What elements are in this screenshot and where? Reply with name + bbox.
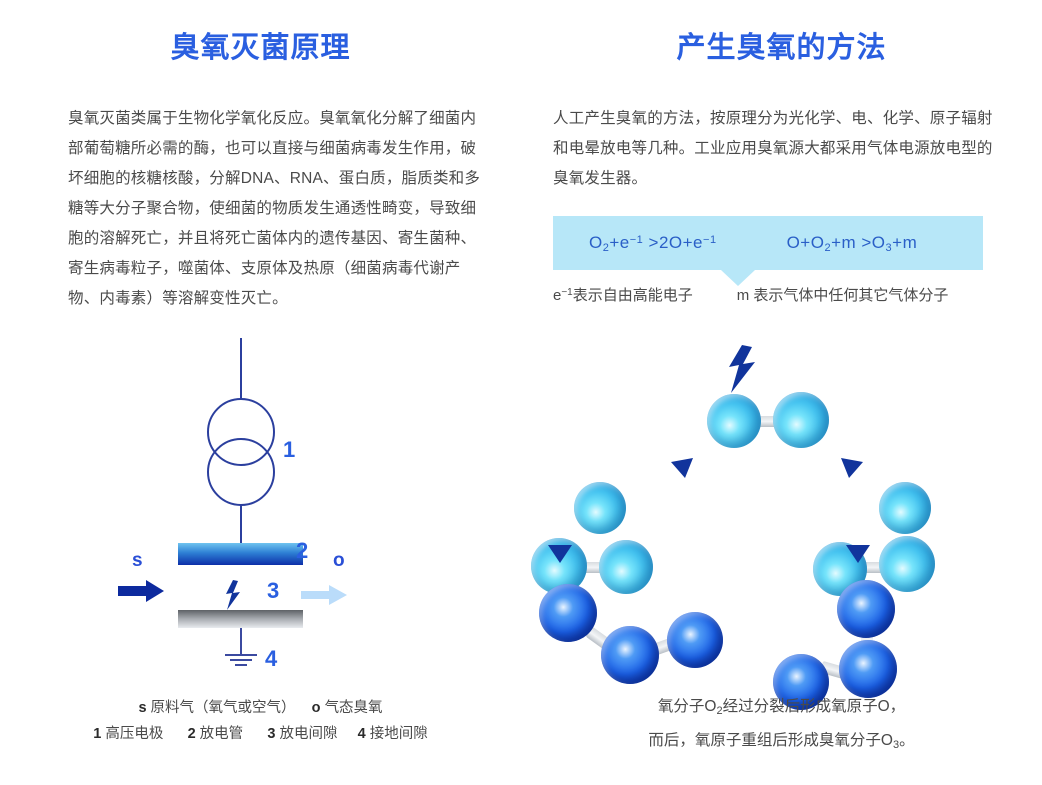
oxygen-atom-right-o2-b [879, 536, 935, 592]
poster-root: 臭氧灭菌原理 臭氧灭菌类属于生物化学氧化反应。臭氧氧化分解了细菌内部葡萄糖所必需… [0, 0, 1042, 785]
formula-box-pointer [721, 270, 755, 286]
legend-line-2: 1 高压电极 2 放电管 3 放电间隙 4 接地间隙 [0, 721, 521, 747]
transformer-coil-lower [207, 438, 275, 506]
oxygen-atom-top-left [707, 394, 761, 448]
left-legend: s 原料气（氧气或空气） o 气态臭氧 1 高压电极 2 放电管 3 放电间隙 … [0, 695, 521, 747]
hv-wire-top [240, 338, 242, 400]
ozone-atom-right-1 [837, 580, 895, 638]
legend-key-2: 2 [188, 726, 196, 742]
left-section-title: 臭氧灭菌原理 [0, 24, 521, 66]
legend-key-3: 3 [267, 726, 275, 742]
ozone-formation-diagram [521, 340, 1042, 680]
callout-number-1: 1 [283, 437, 295, 463]
callout-number-4: 4 [265, 646, 277, 672]
legend-key-4: 4 [358, 726, 366, 742]
legend-text-4: 接地间隙 [370, 726, 428, 742]
oxygen-atom-top-right [773, 392, 829, 448]
right-section-title: 产生臭氧的方法 [521, 24, 1042, 66]
outlet-arrow-icon [301, 585, 347, 610]
left-column: 臭氧灭菌原理 臭氧灭菌类属于生物化学氧化反应。臭氧氧化分解了细菌内部葡萄糖所必需… [0, 0, 521, 785]
ozone-atom-left-2 [601, 626, 659, 684]
ground-symbol-bar-1 [225, 654, 257, 656]
legend-key-s: s [138, 700, 146, 716]
right-body-text: 人工产生臭氧的方法，按原理分为光化学、电、化学、原子辐射和电晕放电等几种。工业应… [553, 104, 1003, 194]
ground-wire [240, 628, 242, 654]
inlet-arrow-icon [118, 580, 164, 607]
ozone-atom-left-3 [667, 612, 723, 668]
high-voltage-electrode [178, 543, 303, 565]
free-oxygen-atom-right [879, 482, 931, 534]
ground-symbol-bar-3 [235, 664, 247, 666]
formula-oxygen-split: O2+e−1 >2O+e−1 [589, 233, 717, 254]
formula-ozone-form: O+O2+m >O3+m [787, 233, 918, 254]
callout-number-3: 3 [267, 578, 279, 604]
ozone-generator-diagram: 1 2 3 4 [0, 338, 521, 683]
formula-callout: O2+e−1 >2O+e−1 O+O2+m >O3+m [553, 216, 983, 270]
legend-text-2: 放电管 [200, 726, 244, 742]
legend-text-s: 原料气（氧气或空气） [151, 700, 296, 716]
formula-box: O2+e−1 >2O+e−1 O+O2+m >O3+m [553, 216, 983, 270]
ground-symbol-bar-2 [230, 659, 252, 661]
ozone-atom-left-1 [539, 584, 597, 642]
hv-wire-bottom [240, 504, 242, 548]
discharge-spark-icon [222, 580, 244, 615]
legend-text-o: 气态臭氧 [325, 700, 383, 716]
legend-text-3: 放电间隙 [279, 726, 337, 742]
oxygen-atom-left-o2-b [599, 540, 653, 594]
callout-number-2: 2 [296, 538, 308, 564]
legend-line-1: s 原料气（氧气或空气） o 气态臭氧 [0, 695, 521, 721]
caption-line-1: 氧分子O2经过分裂后形成氧原子O， [521, 692, 1042, 726]
inlet-gas-label: s [132, 550, 143, 572]
legend-key-1: 1 [93, 726, 101, 742]
legend-text-1: 高压电极 [105, 726, 163, 742]
formula-legend-note: e−1表示自由高能电子m 表示气体中任何其它气体分子 [553, 284, 1042, 305]
caption-line-2: 而后，氧原子重组后形成臭氧分子O3。 [521, 726, 1042, 760]
free-oxygen-atom-left [574, 482, 626, 534]
outlet-gas-label: o [333, 550, 345, 572]
ozone-atom-right-2 [839, 640, 897, 698]
legend-key-o: o [312, 700, 321, 716]
molecule-diagram-caption: 氧分子O2经过分裂后形成氧原子O， 而后，氧原子重组后形成臭氧分子O3。 [521, 692, 1042, 760]
left-body-text: 臭氧灭菌类属于生物化学氧化反应。臭氧氧化分解了细菌内部葡萄糖所必需的酶，也可以直… [68, 104, 488, 314]
